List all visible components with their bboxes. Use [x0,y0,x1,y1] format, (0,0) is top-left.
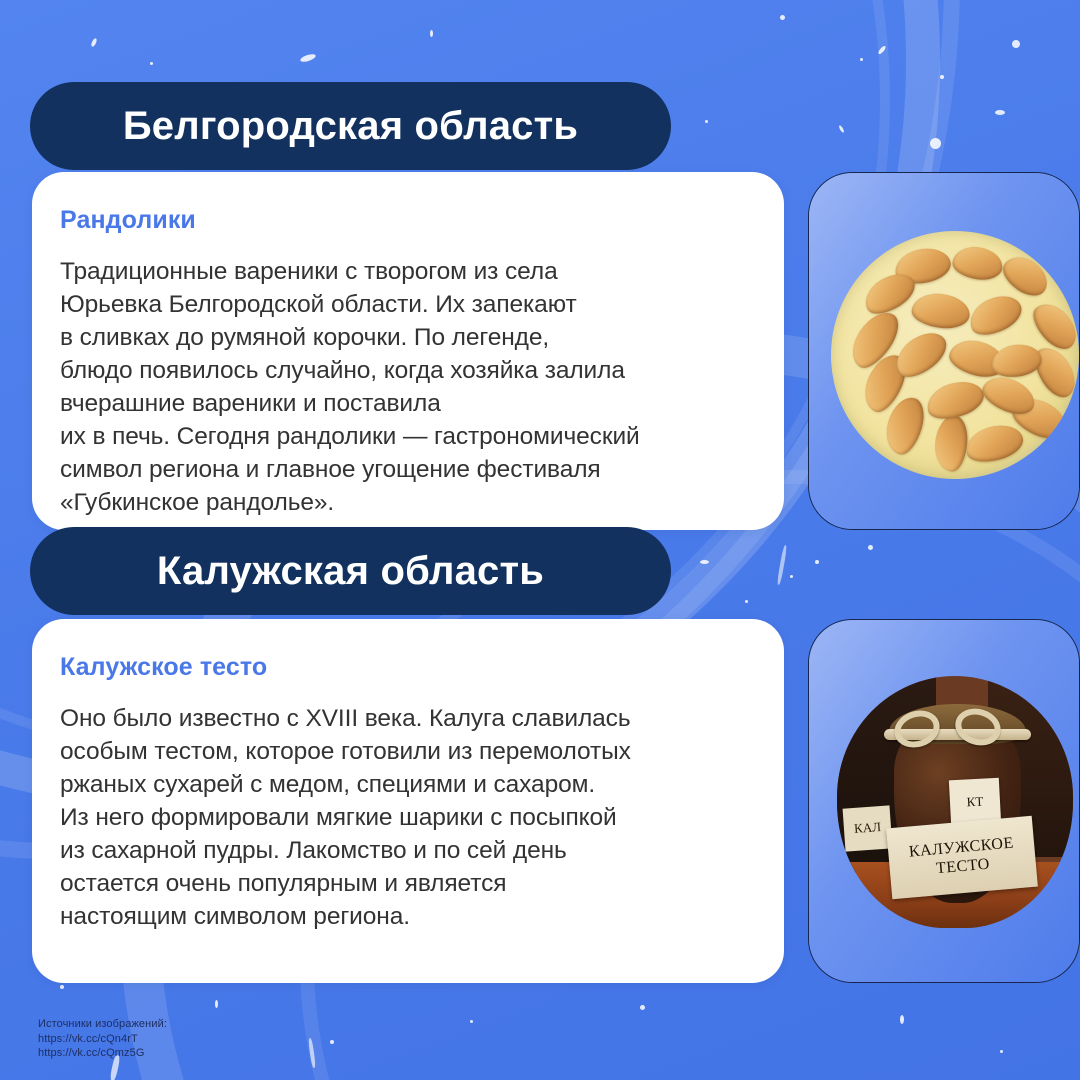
image-sources-block: Источники изображений: https://vk.cc/cQn… [38,1017,167,1061]
speckle [705,120,708,123]
speckle [299,53,316,64]
region-title: Калужская область [157,549,544,594]
speckle [1000,1050,1003,1053]
speckle [815,560,819,564]
source-link-1[interactable]: https://vk.cc/cQn4rT [38,1032,167,1047]
speckle [780,15,785,20]
speckle-streak [777,545,788,585]
speckle [1012,40,1020,48]
speckle [430,30,433,37]
speckle-streak [308,1038,316,1068]
speckle [470,1020,473,1023]
region-header-belgorod: Белгородская область [30,82,671,170]
speckle [60,985,64,989]
dish-title: Рандолики [60,206,748,235]
speckle [150,62,153,65]
speckle [930,138,941,149]
sources-title: Источники изображений: [38,1017,167,1032]
region-header-kaluga: Калужская область [30,527,671,615]
speckle [215,1000,218,1008]
baked-dumplings-photo [809,173,1079,529]
speckle [790,575,793,578]
emblem-monogram: КТ [967,795,984,809]
dish-card-randoliki: Рандолики Традиционные вареники с творог… [32,172,784,530]
speckle [900,1015,904,1024]
speckle [995,110,1005,115]
speckle [745,600,748,603]
kaluzhskoe-testo-jar-photo: КАЛ КТ КАЛУЖСКОЕ ТЕСТО [809,620,1079,982]
speckle [860,58,863,61]
speckle [700,560,709,564]
jar-main-label: КАЛУЖСКОЕ ТЕСТО [886,816,1038,899]
dish-description: Оно было известно с XVIII века. Калуга с… [60,702,748,933]
speckle [940,75,944,79]
region-title: Белгородская область [123,104,578,149]
side-jar-label: КАЛ [843,805,893,851]
dish-title: Калужское тесто [60,653,748,682]
jar-scene: КАЛ КТ КАЛУЖСКОЕ ТЕСТО [837,676,1073,928]
speckle [838,125,845,133]
speckle [877,45,886,55]
photo-card-kaluzhskoe-testo: КАЛ КТ КАЛУЖСКОЕ ТЕСТО [808,619,1080,983]
speckle [330,1040,334,1044]
dish-description: Традиционные вареники с творогом из села… [60,255,748,519]
speckle [868,545,873,550]
speckle [90,38,97,48]
source-link-2[interactable]: https://vk.cc/cQmz5G [38,1046,167,1061]
speckle [640,1005,645,1010]
dish-card-kaluzhskoe-testo: Калужское тесто Оно было известно с XVII… [32,619,784,983]
baking-dish [823,223,1079,488]
photo-card-randoliki [808,172,1080,530]
jar-label-line-2: ТЕСТО [935,855,990,879]
